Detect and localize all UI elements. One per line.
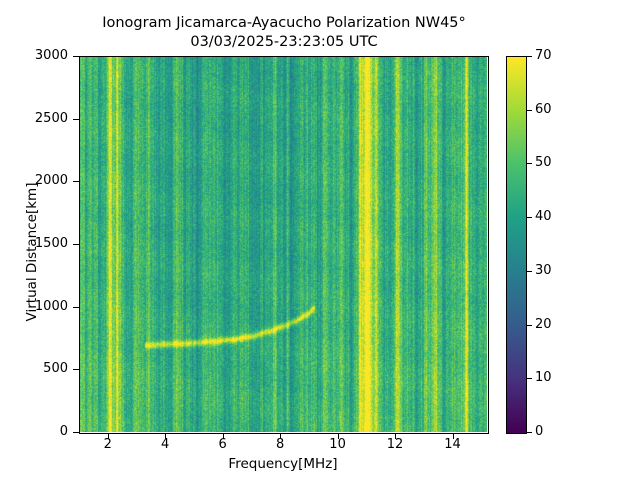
x-tick-label: 8 bbox=[260, 437, 300, 452]
colorbar-tick-mark bbox=[527, 110, 532, 111]
ionogram-figure: Ionogram Jicamarca-Ayacucho Polarization… bbox=[0, 0, 640, 480]
x-axis-label: Frequency[MHz] bbox=[79, 456, 487, 472]
colorbar-tick-label: 60 bbox=[535, 102, 552, 117]
x-tick-label: 4 bbox=[145, 437, 185, 452]
colorbar-tick-label: 40 bbox=[535, 209, 552, 224]
colorbar-tick-label: 10 bbox=[535, 370, 552, 385]
colorbar-tick-label: 0 bbox=[535, 424, 543, 439]
y-tick-label: 0 bbox=[6, 424, 68, 439]
colorbar-tick-mark bbox=[527, 432, 532, 433]
figure-title: Ionogram Jicamarca-Ayacucho Polarization… bbox=[0, 14, 568, 52]
title-line-1: Ionogram Jicamarca-Ayacucho Polarization… bbox=[102, 15, 466, 31]
y-tick-mark bbox=[73, 181, 79, 182]
y-tick-mark bbox=[73, 244, 79, 245]
colorbar-tick-label: 70 bbox=[535, 48, 552, 63]
x-tick-label: 2 bbox=[88, 437, 128, 452]
x-tick-label: 6 bbox=[203, 437, 243, 452]
y-tick-label: 500 bbox=[6, 361, 68, 376]
title-line-2: 03/03/2025-23:23:05 UTC bbox=[190, 34, 377, 50]
y-tick-mark bbox=[73, 432, 79, 433]
colorbar-tick-mark bbox=[527, 325, 532, 326]
plot-axes-frame bbox=[79, 56, 489, 434]
y-tick-label: 3000 bbox=[6, 48, 68, 63]
colorbar-frame bbox=[506, 56, 527, 434]
colorbar-tick-mark bbox=[527, 163, 532, 164]
x-tick-label: 12 bbox=[375, 437, 415, 452]
colorbar-tick-mark bbox=[527, 56, 532, 57]
x-tick-label: 14 bbox=[433, 437, 473, 452]
y-tick-mark bbox=[73, 369, 79, 370]
colorbar-tick-label: 50 bbox=[535, 155, 552, 170]
colorbar-tick-mark bbox=[527, 378, 532, 379]
colorbar-tick-label: 30 bbox=[535, 263, 552, 278]
colorbar-tick-mark bbox=[527, 217, 532, 218]
x-tick-label: 10 bbox=[318, 437, 358, 452]
y-tick-label: 2500 bbox=[6, 111, 68, 126]
y-axis-label: Virtual Distance[km] bbox=[24, 142, 40, 362]
y-tick-mark bbox=[73, 119, 79, 120]
y-tick-mark bbox=[73, 307, 79, 308]
colorbar-tick-label: 20 bbox=[535, 317, 552, 332]
colorbar-tick-mark bbox=[527, 271, 532, 272]
y-tick-mark bbox=[73, 56, 79, 57]
